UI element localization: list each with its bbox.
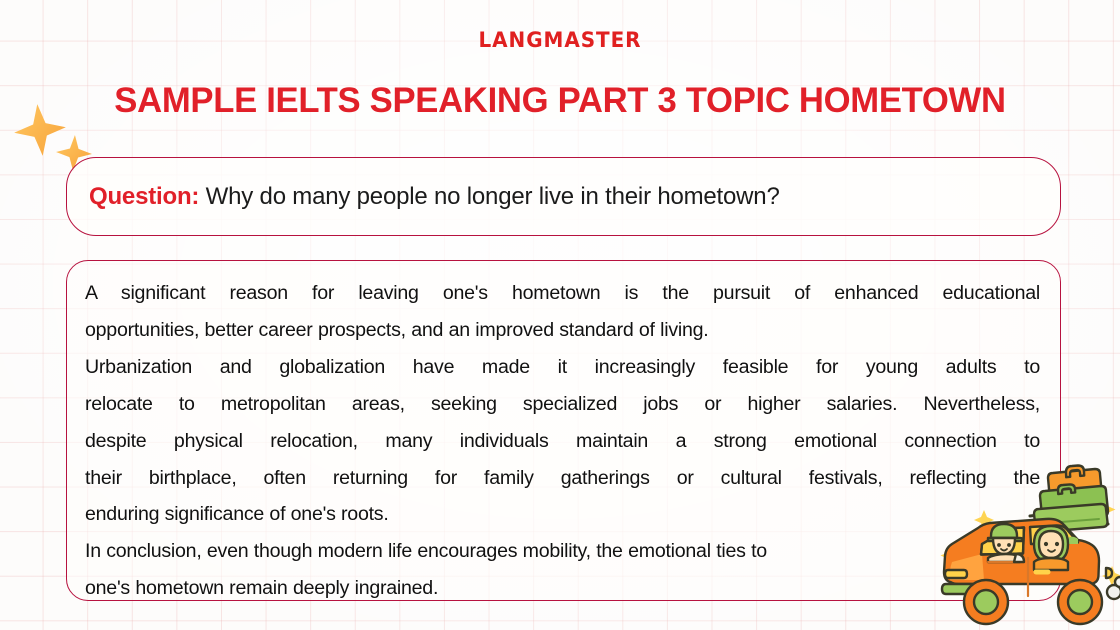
answer-box: A significant reason for leaving one's h… — [66, 260, 1061, 601]
question-text: Why do many people no longer live in the… — [206, 183, 780, 210]
answer-line: relocate to metropolitan areas, seeking … — [85, 386, 1040, 423]
answer-line: In conclusion, even though modern life e… — [85, 533, 1040, 570]
answer-line: Urbanization and globalization have made… — [85, 349, 1040, 386]
question-box: Question: Why do many people no longer l… — [66, 157, 1061, 236]
langmaster-brand-logo: LANGMASTER — [28, 28, 1092, 52]
question-line: Question: Why do many people no longer l… — [89, 182, 780, 212]
family-car-with-luggage-illustration — [928, 450, 1120, 630]
question-label: Question: — [89, 183, 199, 210]
answer-line: A significant reason for leaving one's h… — [85, 275, 1040, 312]
answer-line: one's hometown remain deeply ingrained. — [85, 570, 1040, 601]
answer-line: opportunities, better career prospects, … — [85, 312, 1040, 349]
answer-body: A significant reason for leaving one's h… — [85, 275, 1040, 601]
answer-line: despite physical relocation, many indivi… — [85, 423, 1040, 460]
answer-line: enduring significance of one's roots. — [85, 496, 1040, 533]
page-title: SAMPLE IELTS SPEAKING PART 3 TOPIC HOMET… — [6, 80, 1115, 122]
slide-stage: LANGMASTER SAMPLE IELTS SPEAKING PART 3 … — [0, 0, 1120, 630]
answer-line: their birthplace, often returning for fa… — [85, 460, 1040, 497]
